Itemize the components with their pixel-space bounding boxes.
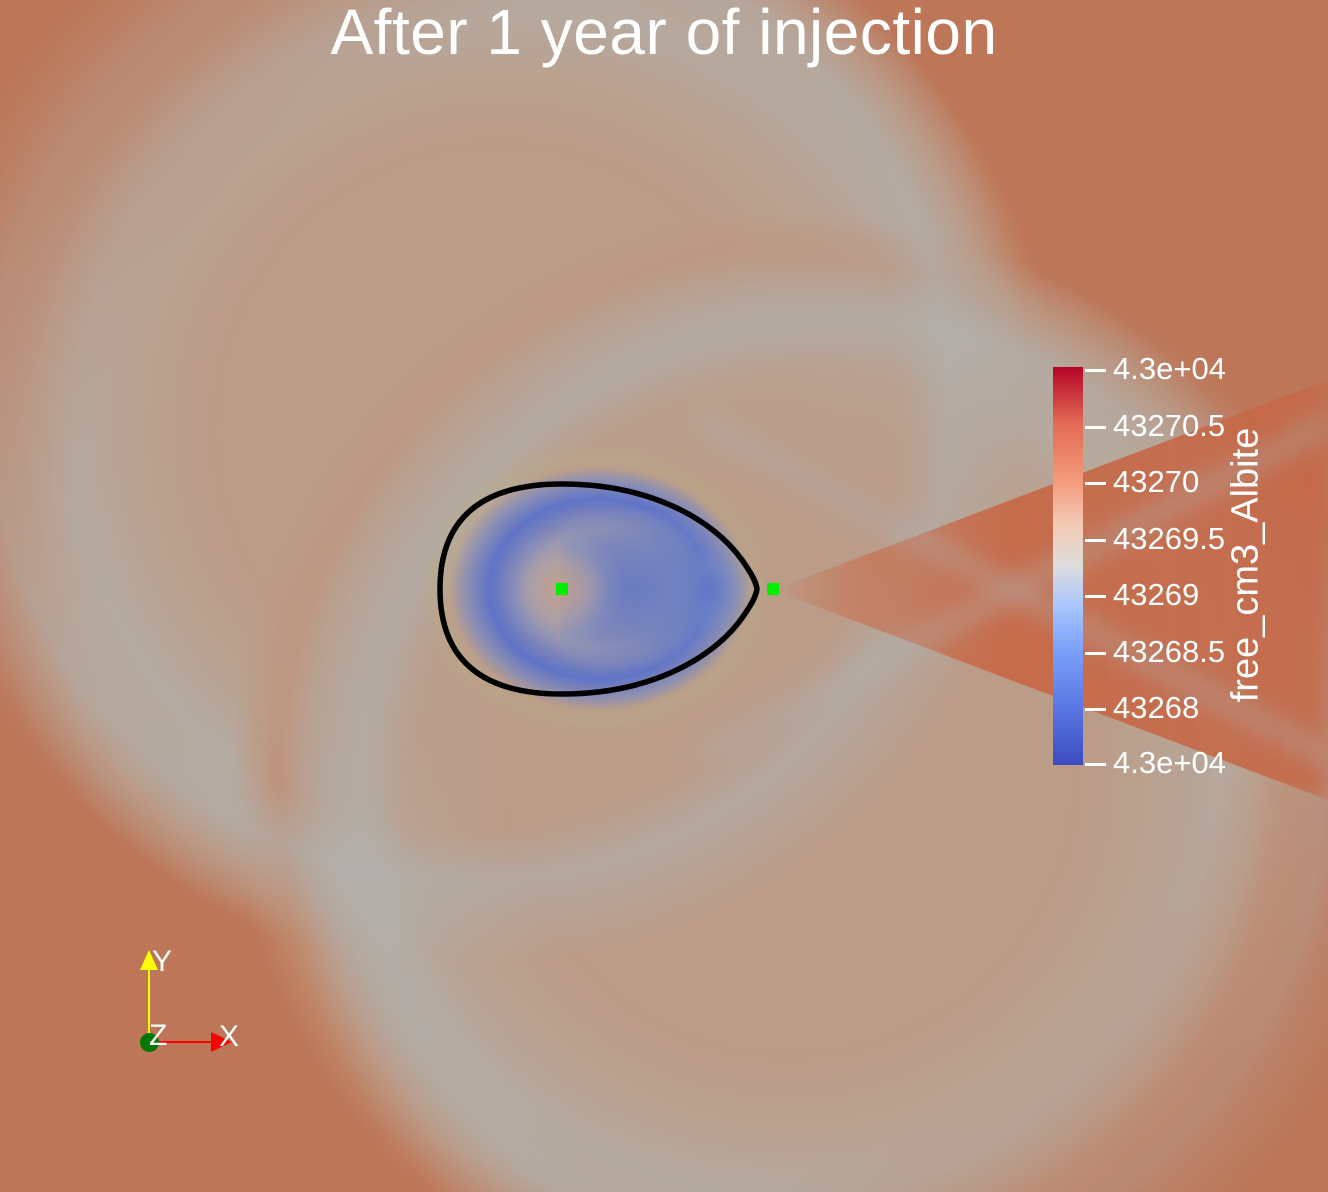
legend-tick-label: 43269.5 <box>1113 521 1225 557</box>
render-view[interactable]: After 1 year of injection 4.3e+04 43270.… <box>0 0 1328 1192</box>
legend-tick-label: 43268 <box>1113 690 1199 726</box>
legend-tick <box>1085 426 1106 429</box>
color-legend-bar[interactable] <box>1053 367 1083 765</box>
legend-tick-label: 4.3e+04 <box>1113 351 1226 387</box>
injection-well-marker[interactable] <box>556 583 568 595</box>
legend-tick <box>1085 652 1106 655</box>
legend-tick-label: 43268.5 <box>1113 634 1225 670</box>
color-legend[interactable]: 4.3e+04 43270.5 43270 43269.5 43269 4326… <box>1053 367 1328 767</box>
production-well-marker[interactable] <box>767 583 779 595</box>
view-title: After 1 year of injection <box>0 0 1328 70</box>
legend-tick <box>1085 369 1106 372</box>
legend-tick-label: 4.3e+04 <box>1113 745 1226 781</box>
color-legend-title: free_cm3_Albite <box>1225 428 1268 703</box>
legend-tick <box>1085 482 1106 485</box>
legend-tick <box>1085 763 1106 766</box>
legend-tick <box>1085 708 1106 711</box>
legend-tick-label: 43269 <box>1113 577 1199 613</box>
orientation-axes-widget[interactable]: Y X Z <box>118 940 298 1070</box>
legend-tick-label: 43270 <box>1113 464 1199 500</box>
legend-tick <box>1085 539 1106 542</box>
legend-tick-label: 43270.5 <box>1113 408 1225 444</box>
x-axis-label: X <box>219 1022 239 1052</box>
legend-tick <box>1085 595 1106 598</box>
y-axis-label: Y <box>152 947 172 977</box>
z-axis-label: Z <box>149 1021 167 1051</box>
